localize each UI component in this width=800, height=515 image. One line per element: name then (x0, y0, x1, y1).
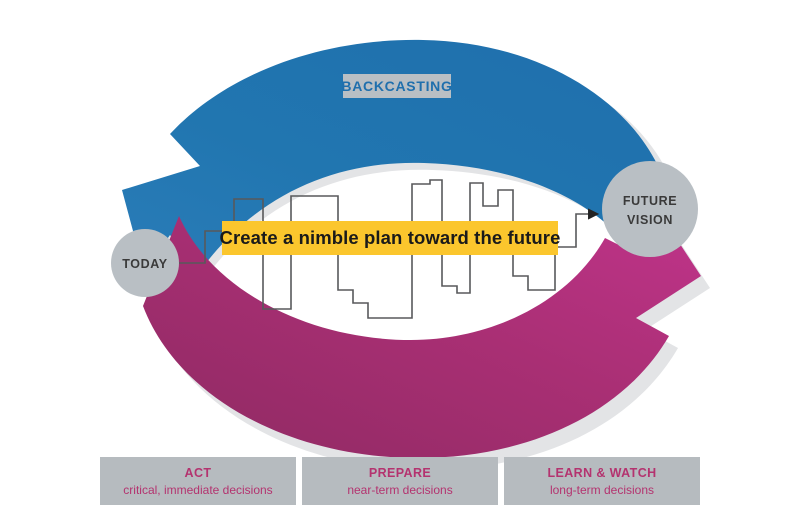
future-vision-node[interactable]: FUTURE VISION (602, 161, 698, 257)
bottom-bar-act-subtitle: critical, immediate decisions (123, 483, 272, 497)
bottom-bar-act-title: ACT (185, 466, 212, 480)
backcasting-label-text: BACKCASTING (341, 78, 452, 94)
bottom-bar-learn-watch-box (504, 457, 700, 505)
plan-banner[interactable]: Create a nimble plan toward the future (220, 221, 561, 255)
future-vision-label-line1: FUTURE (623, 194, 677, 208)
bottom-bar-prepare[interactable]: PREPARE near-term decisions (302, 457, 498, 505)
bottom-bars: ACT critical, immediate decisions PREPAR… (100, 457, 700, 505)
backcasting-diagram: TODAY FUTURE VISION BACKCASTING Create a… (0, 0, 800, 515)
bottom-bar-act[interactable]: ACT critical, immediate decisions (100, 457, 296, 505)
plan-banner-text: Create a nimble plan toward the future (220, 227, 561, 248)
today-label: TODAY (122, 257, 167, 271)
backcasting-label-chip[interactable]: BACKCASTING (341, 74, 452, 98)
future-vision-label-line2: VISION (627, 213, 673, 227)
diagram-canvas: TODAY FUTURE VISION BACKCASTING Create a… (0, 0, 800, 515)
today-node[interactable]: TODAY (111, 229, 179, 297)
bottom-bar-prepare-box (302, 457, 498, 505)
bottom-bar-learn-watch[interactable]: LEARN & WATCH long-term decisions (504, 457, 700, 505)
bottom-bar-learn-watch-title: LEARN & WATCH (547, 466, 656, 480)
bottom-bar-act-box (100, 457, 296, 505)
bottom-bar-learn-watch-subtitle: long-term decisions (550, 483, 654, 497)
bottom-bar-prepare-title: PREPARE (369, 466, 431, 480)
bottom-bar-prepare-subtitle: near-term decisions (347, 483, 452, 497)
future-vision-circle[interactable] (602, 161, 698, 257)
